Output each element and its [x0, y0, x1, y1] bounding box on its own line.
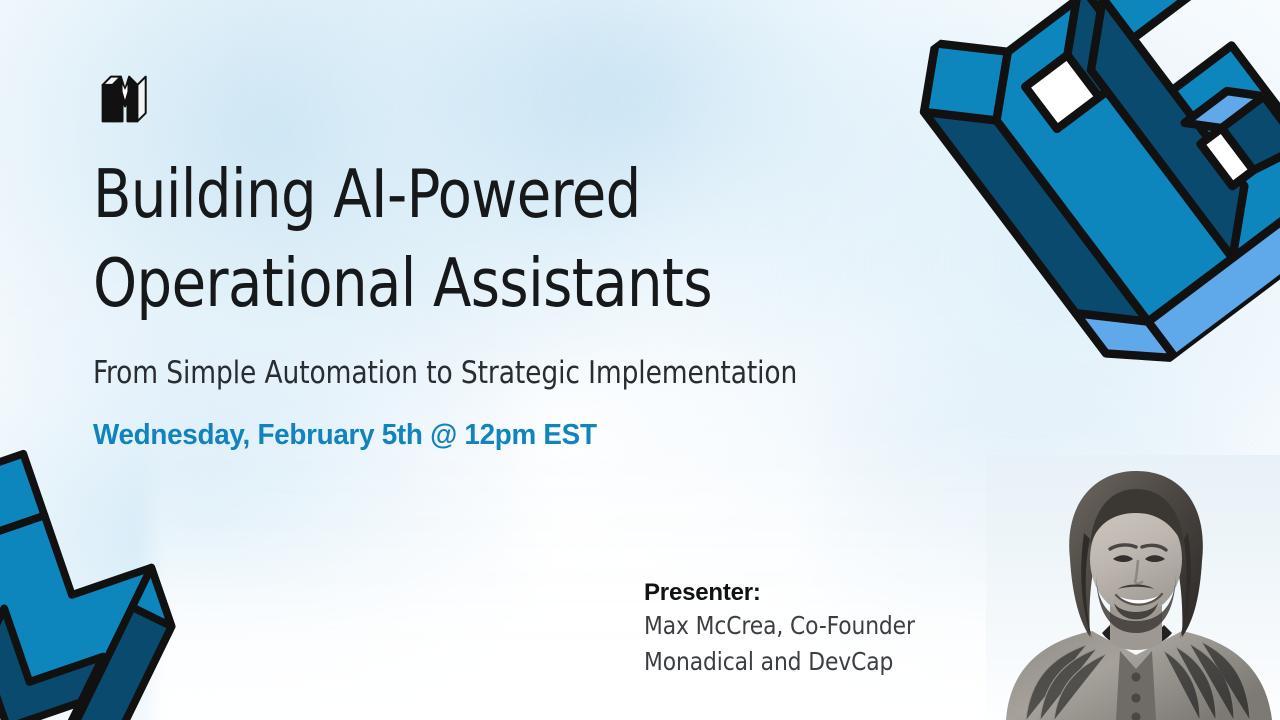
- slide-subtitle: From Simple Automation to Strategic Impl…: [93, 353, 948, 393]
- brand-logo-icon: [96, 70, 154, 126]
- page-title: Building AI-Powered Operational Assistan…: [93, 150, 930, 328]
- presenter-name-role: Max McCrea, Co-Founder: [644, 608, 1013, 644]
- presenter-label: Presenter:: [644, 577, 1024, 608]
- presenter-companies: Monadical and DevCap: [644, 644, 1013, 680]
- presenter-photo: [986, 455, 1280, 720]
- slide-copy: Building AI-Powered Operational Assistan…: [93, 150, 993, 452]
- event-datetime: Wednesday, February 5th @ 12pm EST: [93, 419, 957, 452]
- presenter-block: Presenter: Max McCrea, Co-Founder Monadi…: [644, 577, 1024, 679]
- bottom-left-logo-icon: [0, 412, 274, 720]
- webinar-title-slide: Building AI-Powered Operational Assistan…: [0, 0, 1280, 720]
